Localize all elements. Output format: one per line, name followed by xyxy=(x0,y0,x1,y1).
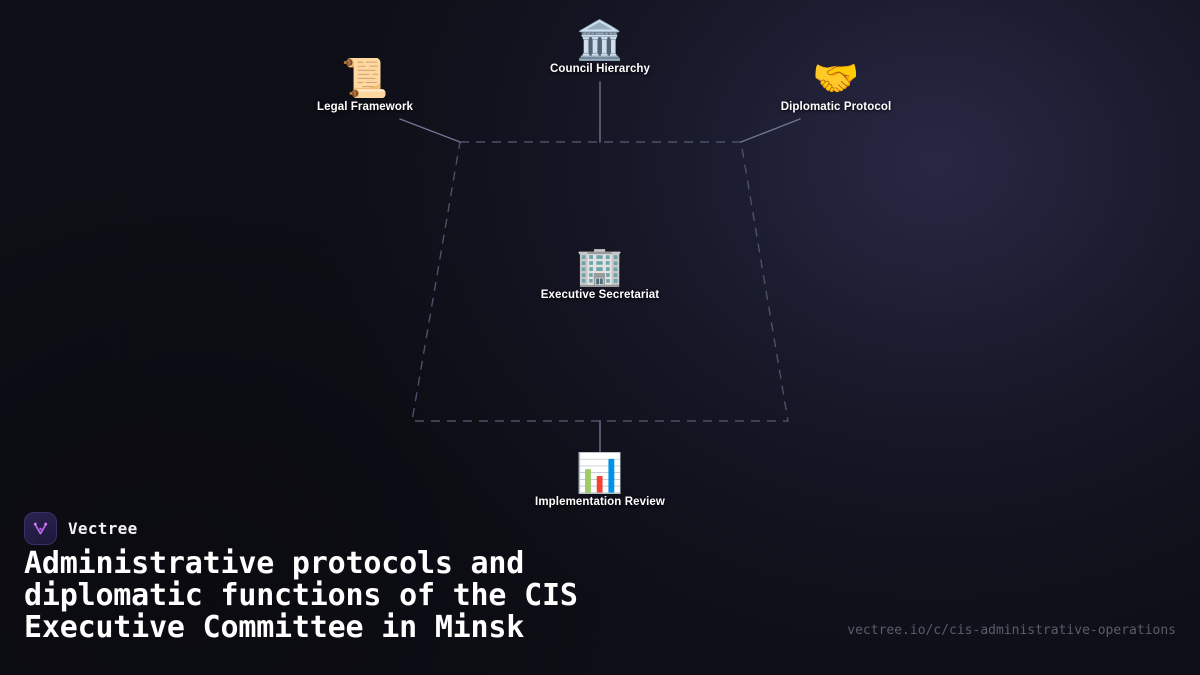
node-label-executive-secretariat: Executive Secretariat xyxy=(541,289,659,301)
bar-chart-icon: 📊 xyxy=(535,451,665,495)
brand-lockup: Vectree xyxy=(24,512,138,545)
slide-canvas: 🏛️Council Hierarchy📜Legal Framework🤝Dipl… xyxy=(0,0,1200,675)
page-title-line-3: Executive Committee in Minsk xyxy=(24,612,744,644)
edge-legal-framework-to-boundary-top-left xyxy=(400,119,460,142)
graph-node-legal-framework[interactable]: 📜Legal Framework xyxy=(317,56,413,113)
graph-node-implementation-review[interactable]: 📊Implementation Review xyxy=(535,451,665,508)
graph-node-diplomatic-protocol[interactable]: 🤝Diplomatic Protocol xyxy=(781,56,892,113)
graph-node-executive-secretariat[interactable]: 🏢Executive Secretariat xyxy=(541,244,659,301)
office-building-icon: 🏢 xyxy=(541,244,659,288)
page-title: Administrative protocols anddiplomatic f… xyxy=(24,548,744,644)
graph-node-council-hierarchy[interactable]: 🏛️Council Hierarchy xyxy=(550,18,650,75)
edge-diplomatic-protocol-to-boundary-top-right xyxy=(741,119,800,142)
scroll-icon: 📜 xyxy=(317,56,413,100)
node-label-legal-framework: Legal Framework xyxy=(317,101,413,113)
classical-building-icon: 🏛️ xyxy=(550,18,650,62)
brand-name: Vectree xyxy=(68,519,138,538)
node-label-diplomatic-protocol: Diplomatic Protocol xyxy=(781,101,892,113)
node-label-implementation-review: Implementation Review xyxy=(535,496,665,508)
page-url: vectree.io/c/cis-administrative-operatio… xyxy=(847,623,1176,638)
handshake-icon: 🤝 xyxy=(781,56,892,100)
node-label-council-hierarchy: Council Hierarchy xyxy=(550,63,650,75)
page-title-line-1: Administrative protocols and xyxy=(24,548,744,580)
vectree-logo-icon xyxy=(24,512,57,545)
page-title-line-2: diplomatic functions of the CIS xyxy=(24,580,744,612)
